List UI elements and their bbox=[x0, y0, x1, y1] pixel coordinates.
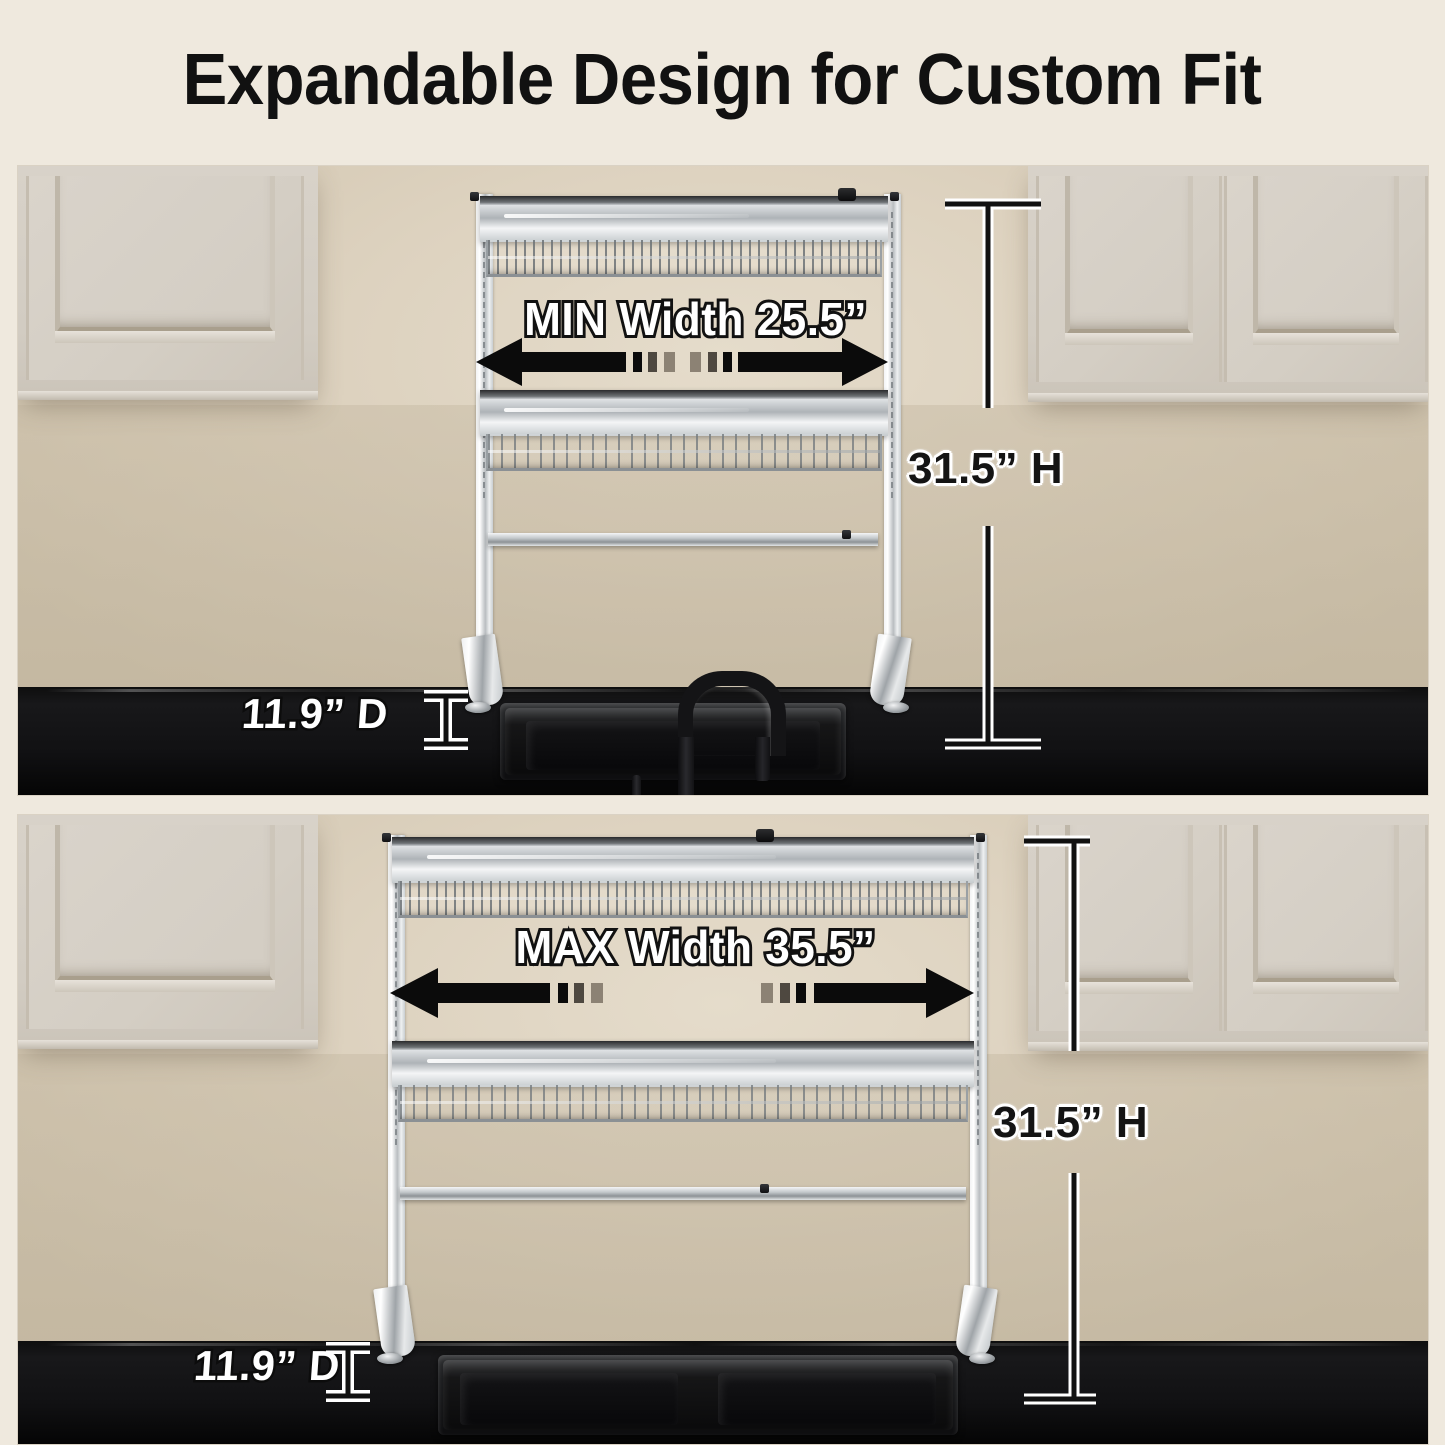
rack-crossbar-clip bbox=[842, 530, 851, 539]
i-beam-depth-icon bbox=[416, 688, 476, 752]
tray-highlight bbox=[504, 214, 749, 218]
tray-highlight bbox=[427, 855, 776, 859]
rack-foot-pad-left bbox=[377, 1353, 403, 1364]
double-headed-arrow-icon bbox=[390, 965, 974, 1021]
dish-rack-min bbox=[18, 166, 1428, 795]
product-photo-min-width: MIN Width 25.5” 31.5” H 11.9” D bbox=[18, 166, 1428, 795]
rack-knob-top bbox=[756, 829, 774, 842]
rack-foot-pad-right bbox=[883, 702, 909, 713]
rack-foot-left bbox=[373, 1285, 416, 1359]
rack-crossbar bbox=[400, 1187, 966, 1200]
rack-height-adjust-dashes bbox=[891, 212, 893, 498]
rack-clip-right bbox=[890, 192, 899, 201]
rack-foot-right bbox=[954, 1285, 997, 1359]
rack-tray-bottom bbox=[480, 390, 888, 436]
rack-height-adjust-dashes bbox=[977, 853, 979, 1145]
rack-clip-right bbox=[976, 833, 985, 842]
rack-tray-top bbox=[392, 837, 974, 883]
tray-highlight bbox=[504, 408, 749, 412]
page-title-bar: Expandable Design for Custom Fit bbox=[0, 0, 1445, 160]
tray-highlight bbox=[427, 1059, 776, 1063]
product-photo-max-width: MAX Width 35.5” 31.5” H 11.9” D bbox=[18, 815, 1428, 1444]
rack-crossbar-clip bbox=[760, 1184, 769, 1193]
rack-wire-mesh-bottom bbox=[486, 434, 882, 471]
min-height-label: 31.5” H bbox=[908, 444, 1063, 494]
rack-foot-pad-right bbox=[969, 1353, 995, 1364]
double-headed-arrow-icon bbox=[476, 334, 888, 390]
max-width-arrow bbox=[390, 965, 974, 1021]
rack-foot-right bbox=[868, 634, 911, 708]
min-depth-marker bbox=[416, 688, 476, 752]
rack-clip-left bbox=[470, 192, 479, 201]
rack-wire-mesh-top bbox=[486, 240, 882, 277]
rack-wire-mesh-bottom bbox=[398, 1085, 968, 1122]
max-height-label: 31.5” H bbox=[993, 1098, 1148, 1148]
rack-tray-bottom bbox=[392, 1041, 974, 1087]
page-title: Expandable Design for Custom Fit bbox=[183, 39, 1262, 121]
rack-clip-left bbox=[382, 833, 391, 842]
rack-tray-top bbox=[480, 196, 888, 242]
rack-knob-top bbox=[838, 188, 856, 201]
rack-crossbar bbox=[488, 533, 878, 546]
max-depth-marker bbox=[318, 1340, 378, 1404]
i-beam-depth-icon bbox=[318, 1340, 378, 1404]
rack-wire-mesh-top bbox=[398, 881, 968, 918]
rack-leg-right bbox=[884, 194, 901, 684]
min-depth-label: 11.9” D bbox=[240, 690, 389, 738]
min-width-arrow bbox=[476, 334, 888, 390]
